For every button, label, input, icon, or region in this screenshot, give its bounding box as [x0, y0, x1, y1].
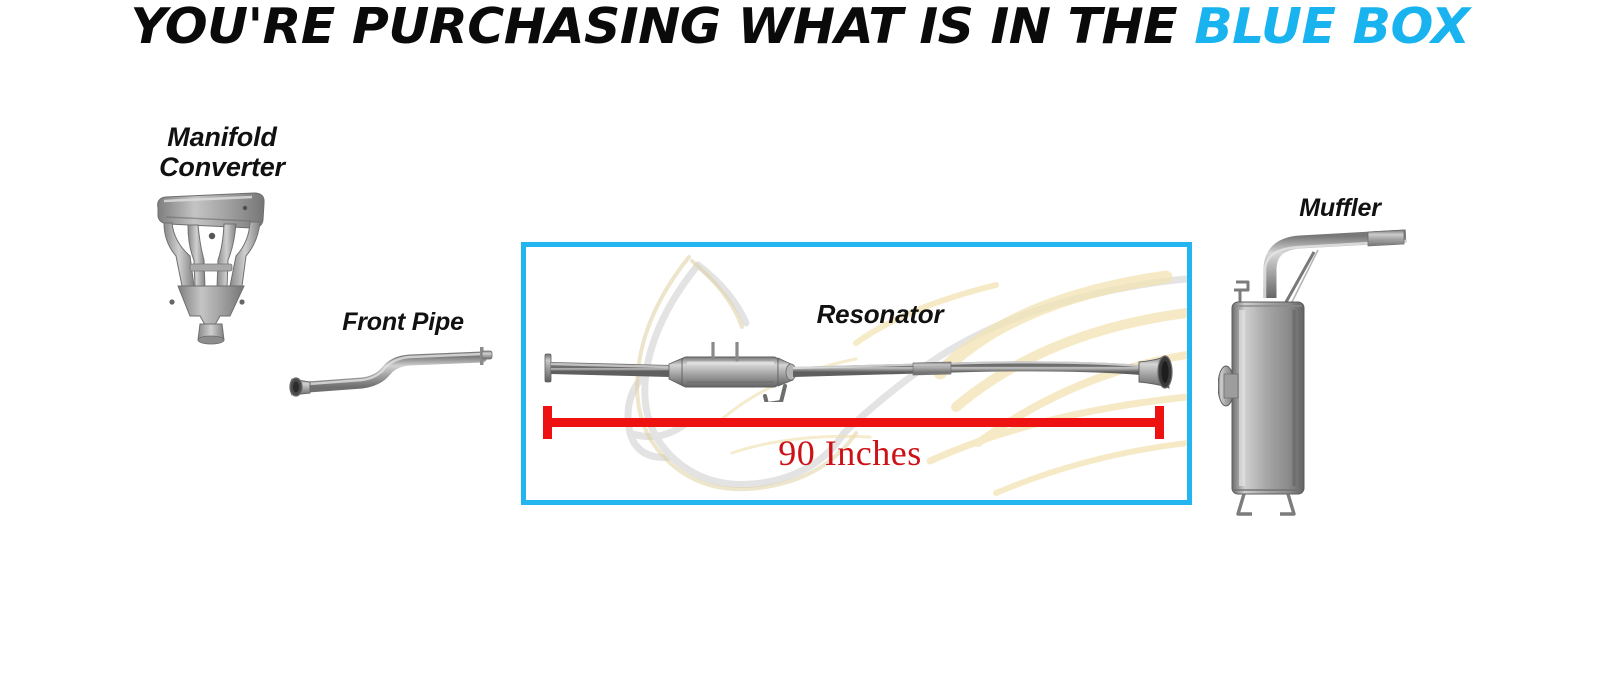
- resonator-label: Resonator: [760, 300, 1000, 329]
- page-title-blue-text: BLUE BOX: [1194, 0, 1469, 55]
- front-pipe-icon: [286, 345, 510, 401]
- measurement-cap-right: [1155, 406, 1164, 439]
- manifold-converter-label: Manifold Converter: [120, 122, 324, 182]
- product-diagram: YOU'RE PURCHASING WHAT IS IN THE BLUE BO…: [0, 0, 1600, 685]
- manifold-converter-icon: [150, 190, 270, 345]
- page-title: YOU'RE PURCHASING WHAT IS IN THE BLUE BO…: [0, 0, 1600, 56]
- resonator-assembly-icon: [541, 342, 1186, 402]
- measurement-bar: [543, 418, 1164, 427]
- front-pipe-label: Front Pipe: [300, 308, 506, 336]
- measurement-label: 90 Inches: [700, 432, 1000, 474]
- muffler-label: Muffler: [1240, 194, 1440, 222]
- measurement-cap-left: [543, 406, 552, 439]
- muffler-icon: [1218, 222, 1414, 518]
- page-title-black-text: YOU'RE PURCHASING WHAT IS IN THE: [131, 0, 1195, 55]
